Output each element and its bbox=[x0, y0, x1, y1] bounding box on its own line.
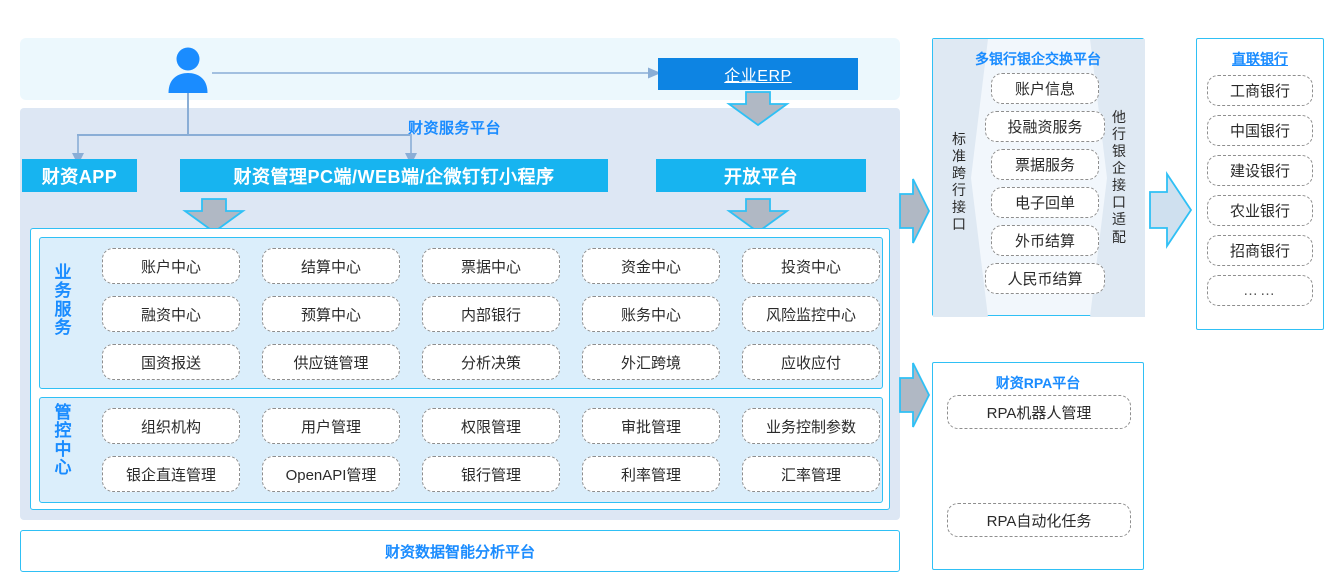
service-cell[interactable]: 风险监控中心 bbox=[742, 296, 880, 332]
management-cell[interactable]: 审批管理 bbox=[582, 408, 720, 444]
service-grid-container: 业 务 服 务 账户中心 结算中心 票据中心 资金中心 投资中心 融资中心 预算… bbox=[30, 228, 890, 510]
exchange-service-cell[interactable]: 电子回单 bbox=[991, 187, 1099, 218]
business-services-vertical-label: 业 务 服 务 bbox=[50, 264, 76, 337]
multi-bank-exchange-title: 多银行银企交换平台 bbox=[933, 49, 1143, 69]
channel-pc-web-box[interactable]: 财资管理PC端/WEB端/企微钉钉小程序 bbox=[180, 159, 608, 192]
direct-banks-title: 直联银行 bbox=[1197, 49, 1323, 69]
user-branch-line bbox=[77, 134, 410, 136]
channel-open-platform-label: 开放平台 bbox=[724, 163, 798, 189]
standard-interbank-interface-label: 标 准 跨 行 接 口 bbox=[949, 131, 969, 233]
exchange-service-cell[interactable]: 外币结算 bbox=[991, 225, 1099, 256]
service-cell[interactable]: 投资中心 bbox=[742, 248, 880, 284]
platform-to-rpa-arrow-icon bbox=[900, 362, 930, 428]
service-cell[interactable]: 应收应付 bbox=[742, 344, 880, 380]
diagram-canvas: 企业ERP 财资服务平台 财资APP 财资管理PC端/WEB端/企微钉钉小程序 … bbox=[0, 0, 1329, 580]
business-services-section: 业 务 服 务 账户中心 结算中心 票据中心 资金中心 投资中心 融资中心 预算… bbox=[39, 237, 883, 389]
bank-cell[interactable]: 农业银行 bbox=[1207, 195, 1313, 226]
rpa-platform-title: 财资RPA平台 bbox=[933, 373, 1143, 393]
data-analysis-platform-bar: 财资数据智能分析平台 bbox=[20, 530, 900, 572]
service-cell[interactable]: 账务中心 bbox=[582, 296, 720, 332]
direct-banks-panel: 直联银行 工商银行 中国银行 建设银行 农业银行 招商银行 …… bbox=[1196, 38, 1324, 330]
exchange-to-banks-arrow-icon bbox=[1150, 172, 1192, 248]
management-cell[interactable]: 用户管理 bbox=[262, 408, 400, 444]
management-center-section: 管 控 中 心 组织机构 用户管理 权限管理 审批管理 业务控制参数 银企直连管… bbox=[39, 397, 883, 503]
bank-cell[interactable]: 中国银行 bbox=[1207, 115, 1313, 146]
other-bank-adapter-label: 他 行 银 企 接 口 适 配 bbox=[1109, 109, 1129, 246]
bank-cell[interactable]: 招商银行 bbox=[1207, 235, 1313, 266]
bank-cell[interactable]: 建设银行 bbox=[1207, 155, 1313, 186]
multi-bank-exchange-panel: 多银行银企交换平台 标 准 跨 行 接 口 他 行 银 企 接 口 适 配 账户… bbox=[932, 38, 1144, 316]
erp-down-arrow-icon bbox=[728, 92, 788, 126]
channel-open-platform-box[interactable]: 开放平台 bbox=[656, 159, 866, 192]
exchange-service-cell[interactable]: 账户信息 bbox=[991, 73, 1099, 104]
channel-app-box[interactable]: 财资APP bbox=[22, 159, 137, 192]
management-center-vertical-label: 管 控 中 心 bbox=[50, 404, 76, 477]
service-cell[interactable]: 结算中心 bbox=[262, 248, 400, 284]
service-cell[interactable]: 国资报送 bbox=[102, 344, 240, 380]
exchange-service-cell[interactable]: 投融资服务 bbox=[985, 111, 1105, 142]
service-cell[interactable]: 供应链管理 bbox=[262, 344, 400, 380]
service-cell[interactable]: 票据中心 bbox=[422, 248, 560, 284]
user-to-erp-arrow bbox=[212, 66, 662, 80]
rpa-platform-panel: 财资RPA平台 RPA机器人管理 RPA自动化任务 bbox=[932, 362, 1144, 570]
treasury-service-platform-title: 财资服务平台 bbox=[408, 117, 501, 138]
service-cell[interactable]: 分析决策 bbox=[422, 344, 560, 380]
enterprise-erp-label: 企业ERP bbox=[724, 62, 791, 86]
channel-pc-web-label: 财资管理PC端/WEB端/企微钉钉小程序 bbox=[234, 163, 555, 189]
management-cell[interactable]: OpenAPI管理 bbox=[262, 456, 400, 492]
rpa-cell[interactable]: RPA自动化任务 bbox=[947, 503, 1131, 537]
management-cell[interactable]: 银企直连管理 bbox=[102, 456, 240, 492]
service-cell[interactable]: 资金中心 bbox=[582, 248, 720, 284]
platform-to-exchange-arrow-icon bbox=[900, 178, 930, 244]
rpa-cell[interactable]: RPA机器人管理 bbox=[947, 395, 1131, 429]
service-cell[interactable]: 预算中心 bbox=[262, 296, 400, 332]
management-cell[interactable]: 汇率管理 bbox=[742, 456, 880, 492]
management-cell[interactable]: 组织机构 bbox=[102, 408, 240, 444]
management-cell[interactable]: 业务控制参数 bbox=[742, 408, 880, 444]
exchange-service-cell[interactable]: 人民币结算 bbox=[985, 263, 1105, 294]
data-analysis-platform-label: 财资数据智能分析平台 bbox=[385, 541, 535, 562]
bank-cell[interactable]: 工商银行 bbox=[1207, 75, 1313, 106]
exchange-service-cell[interactable]: 票据服务 bbox=[991, 149, 1099, 180]
service-cell[interactable]: 内部银行 bbox=[422, 296, 560, 332]
channel-app-label: 财资APP bbox=[42, 163, 118, 189]
user-stem-line bbox=[187, 93, 189, 135]
user-icon bbox=[166, 47, 210, 93]
management-cell[interactable]: 利率管理 bbox=[582, 456, 720, 492]
bank-cell-more[interactable]: …… bbox=[1207, 275, 1313, 306]
service-cell[interactable]: 外汇跨境 bbox=[582, 344, 720, 380]
management-cell[interactable]: 银行管理 bbox=[422, 456, 560, 492]
enterprise-erp-box[interactable]: 企业ERP bbox=[658, 58, 858, 90]
management-cell[interactable]: 权限管理 bbox=[422, 408, 560, 444]
service-cell[interactable]: 账户中心 bbox=[102, 248, 240, 284]
service-cell[interactable]: 融资中心 bbox=[102, 296, 240, 332]
